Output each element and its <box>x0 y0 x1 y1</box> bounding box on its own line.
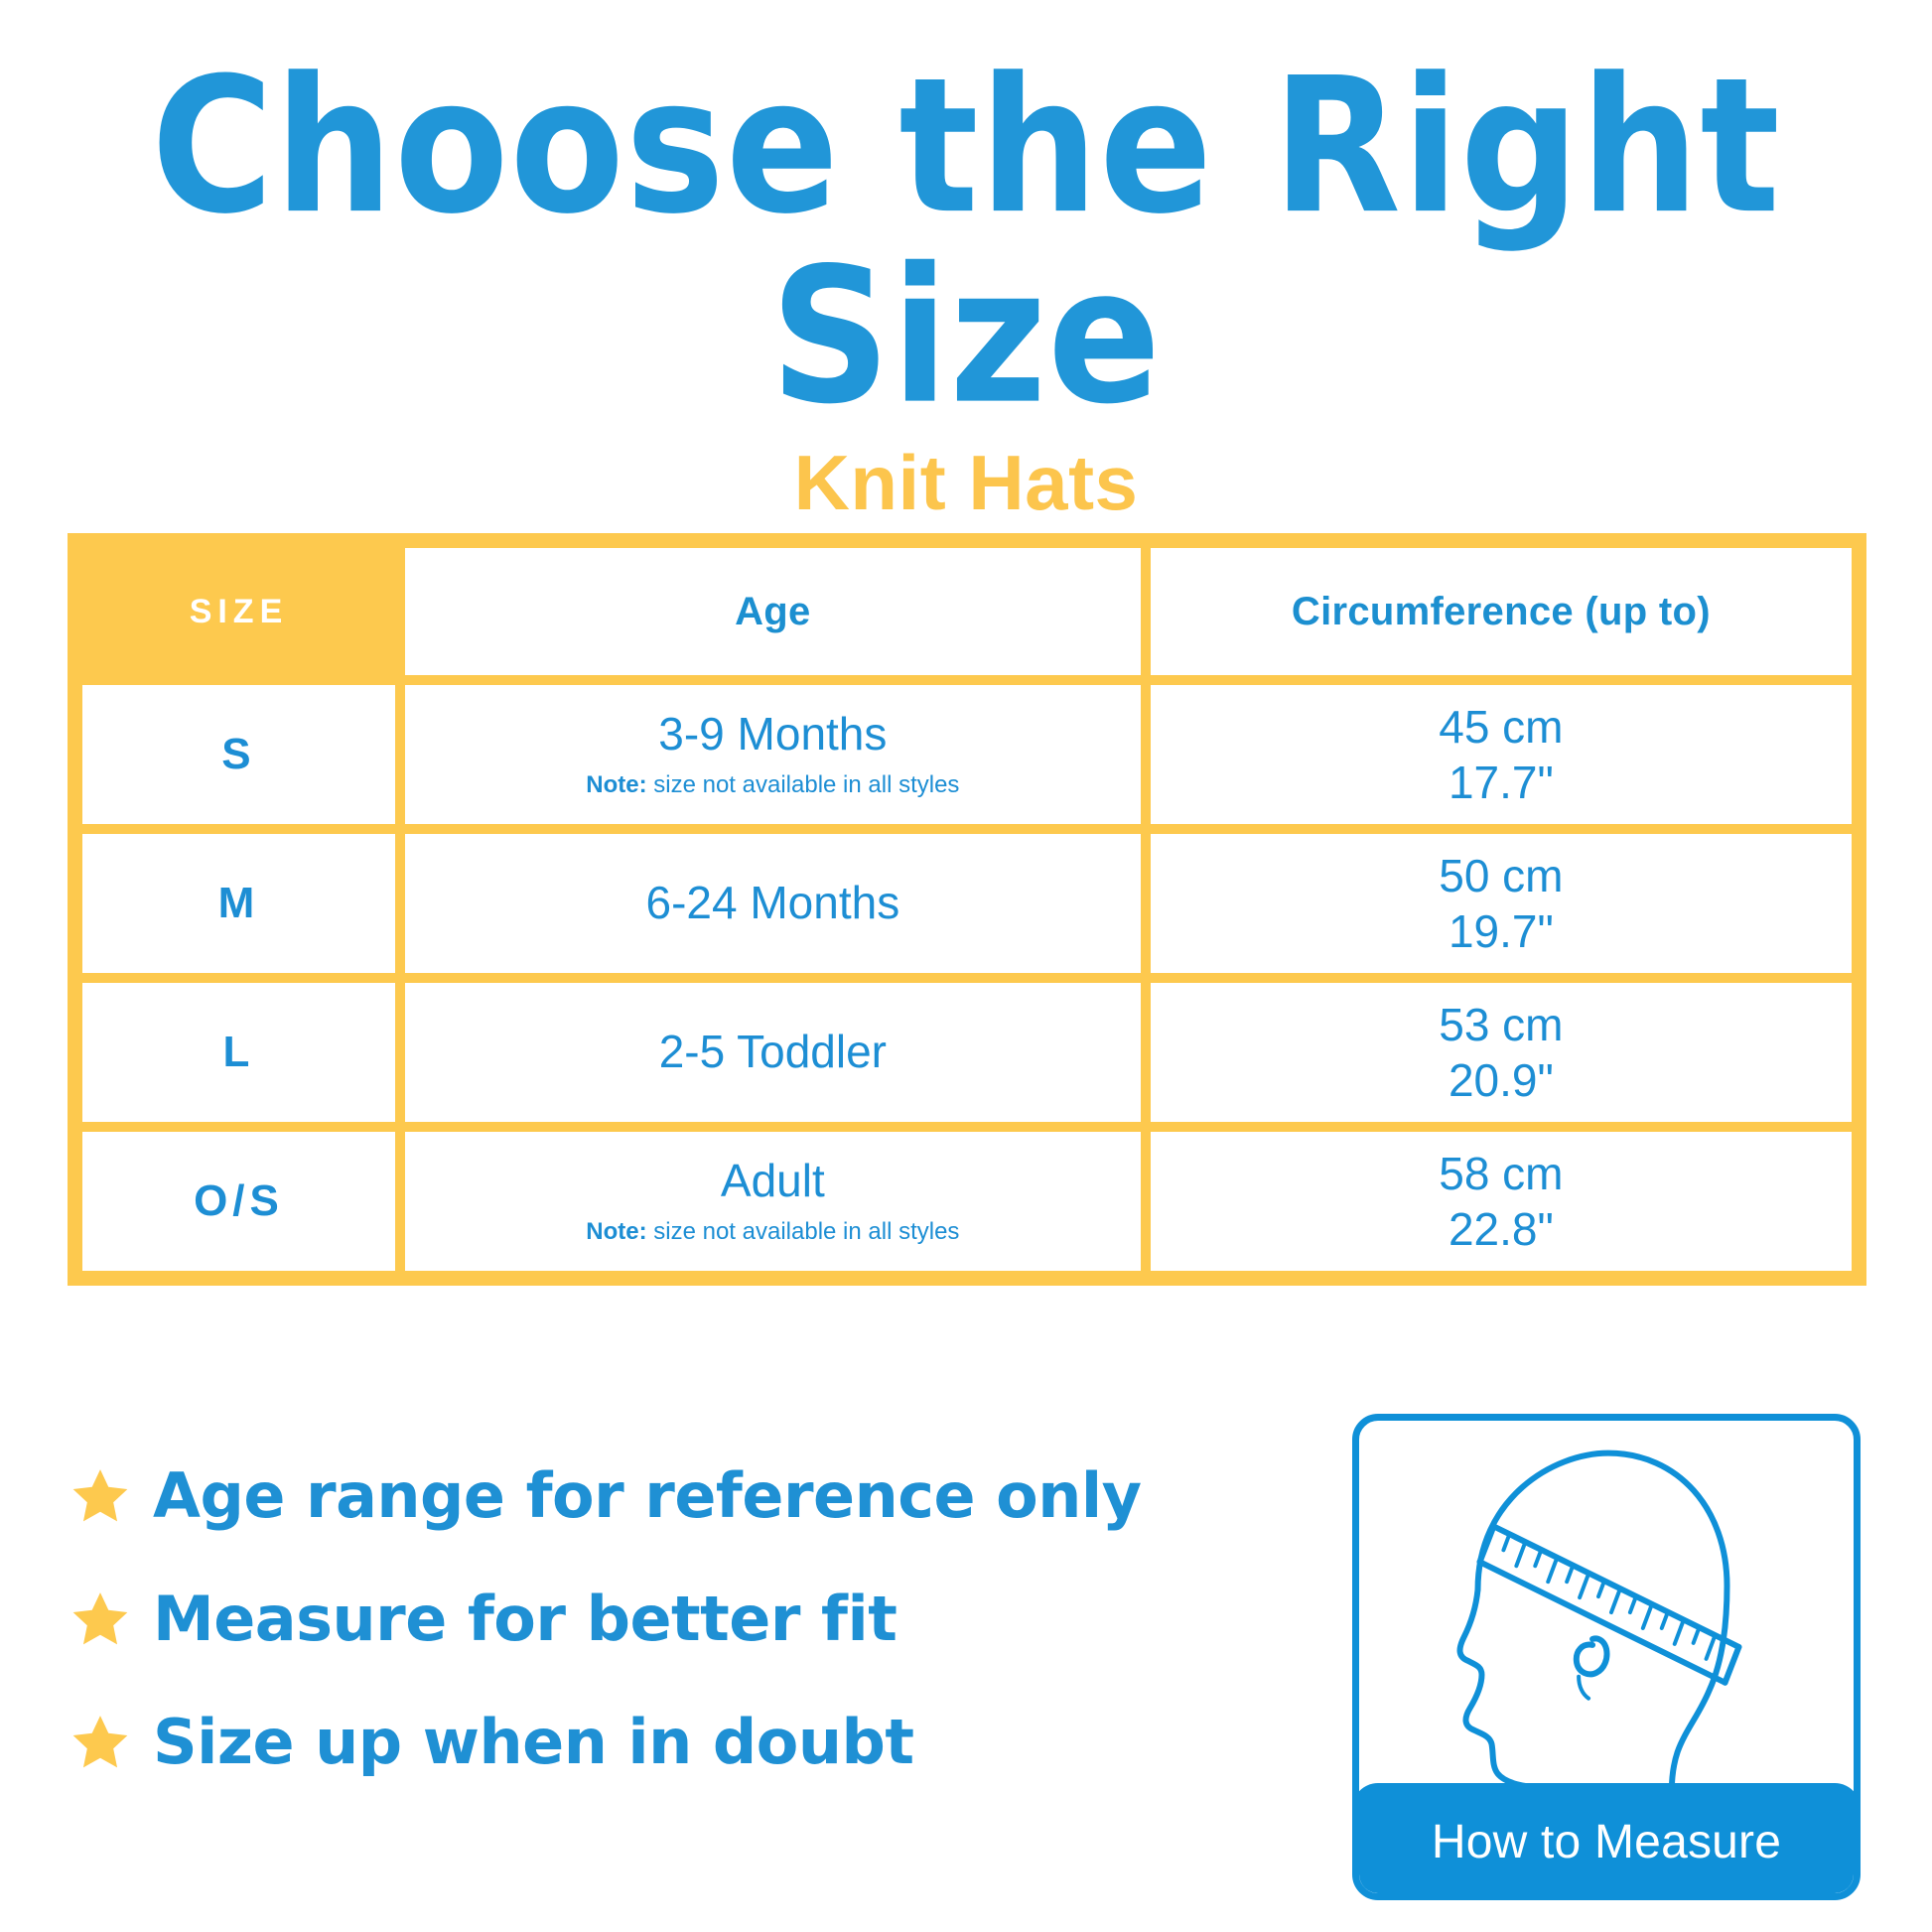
circumference-inches: 22.8" <box>1151 1201 1852 1257</box>
age-label: 3-9 Months <box>405 709 1141 760</box>
size-chart-page: Choose the Right Size Knit Hats SIZE Age… <box>0 0 1932 1932</box>
age-label: Adult <box>405 1156 1141 1207</box>
table-header-row: SIZE Age Circumference (up to) <box>77 543 1857 680</box>
star-icon <box>69 1712 131 1773</box>
star-icon <box>69 1588 131 1650</box>
circumference-inches: 20.9" <box>1151 1052 1852 1108</box>
list-item: Age range for reference only <box>69 1457 1281 1535</box>
circumference-cm: 58 cm <box>1151 1146 1852 1201</box>
circumference-cm: 50 cm <box>1151 848 1852 903</box>
tip-label: Age range for reference only <box>153 1465 1142 1527</box>
age-label: 6-24 Months <box>405 878 1141 929</box>
age-note-text: size not available in all styles <box>647 1218 960 1245</box>
cell-circumference: 50 cm 19.7" <box>1146 829 1857 978</box>
circumference-inches: 19.7" <box>1151 903 1852 959</box>
how-to-measure-label: How to Measure <box>1352 1783 1861 1900</box>
page-title: Choose the Right Size <box>0 52 1932 433</box>
cell-size: M <box>77 829 400 978</box>
size-chart-table: SIZE Age Circumference (up to) S 3-9 Mon… <box>68 533 1866 1286</box>
head-with-measuring-tape-icon <box>1359 1421 1854 1818</box>
column-header-age: Age <box>400 543 1146 680</box>
column-header-size: SIZE <box>77 543 400 680</box>
cell-age: 2-5 Toddler <box>400 978 1146 1127</box>
cell-age: 6-24 Months <box>400 829 1146 978</box>
age-note-text: size not available in all styles <box>647 771 960 798</box>
cell-circumference: 45 cm 17.7" <box>1146 680 1857 829</box>
cell-circumference: 58 cm 22.8" <box>1146 1127 1857 1276</box>
star-icon <box>69 1465 131 1527</box>
circumference-inches: 17.7" <box>1151 755 1852 810</box>
table-row: L 2-5 Toddler 53 cm 20.9" <box>77 978 1857 1127</box>
tips-list: Age range for reference only Measure for… <box>69 1457 1281 1827</box>
age-label: 2-5 Toddler <box>405 1027 1141 1078</box>
cell-size: S <box>77 680 400 829</box>
table-body: S 3-9 Months Note: size not available in… <box>77 680 1857 1276</box>
table-header: SIZE Age Circumference (up to) <box>77 543 1857 680</box>
cell-circumference: 53 cm 20.9" <box>1146 978 1857 1127</box>
tip-label: Size up when in doubt <box>153 1712 914 1773</box>
age-note-label: Note: <box>586 771 646 798</box>
cell-size: O/S <box>77 1127 400 1276</box>
age-note: Note: size not available in all styles <box>405 771 1141 800</box>
cell-size: L <box>77 978 400 1127</box>
table-row: O/S Adult Note: size not available in al… <box>77 1127 1857 1276</box>
list-item: Measure for better fit <box>69 1581 1281 1658</box>
age-note-label: Note: <box>586 1218 646 1245</box>
column-header-circumference: Circumference (up to) <box>1146 543 1857 680</box>
list-item: Size up when in doubt <box>69 1704 1281 1781</box>
tip-label: Measure for better fit <box>153 1588 897 1650</box>
circumference-cm: 53 cm <box>1151 997 1852 1052</box>
how-to-measure-card[interactable]: How to Measure <box>1352 1414 1861 1900</box>
table-row: S 3-9 Months Note: size not available in… <box>77 680 1857 829</box>
cell-age: Adult Note: size not available in all st… <box>400 1127 1146 1276</box>
age-note: Note: size not available in all styles <box>405 1218 1141 1247</box>
circumference-cm: 45 cm <box>1151 699 1852 755</box>
header-block: Choose the Right Size Knit Hats <box>0 52 1932 521</box>
table-row: M 6-24 Months 50 cm 19.7" <box>77 829 1857 978</box>
cell-age: 3-9 Months Note: size not available in a… <box>400 680 1146 829</box>
